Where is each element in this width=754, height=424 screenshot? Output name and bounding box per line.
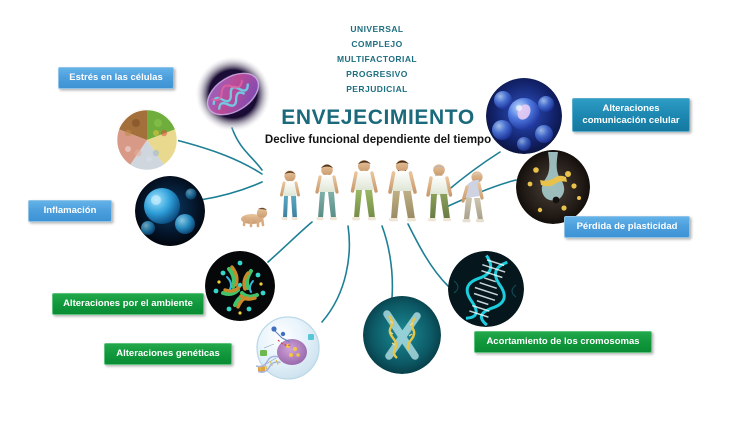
figure-young-adult (352, 160, 376, 220)
figure-baby (241, 208, 267, 226)
link-dna-helix (408, 224, 448, 286)
infographic-canvas: UNIVERSAL COMPLEJO MULTIFACTORIAL PROGRE… (0, 0, 754, 424)
chromosome-dna-image (363, 296, 441, 374)
label-acortamiento-de-los-cromosomas[interactable]: Acortamiento de los cromosomas (474, 331, 652, 353)
keyword-universal: UNIVERSAL (297, 22, 457, 37)
keyword-perjudicial: PERJUDICIAL (297, 82, 457, 97)
label-perdida-de-plasticidad[interactable]: Pérdida de plasticidad (564, 216, 690, 238)
keyword-list: UNIVERSAL COMPLEJO MULTIFACTORIAL PROGRE… (297, 22, 457, 97)
chromosome-spread-image (205, 251, 275, 321)
link-chromosome-spread (268, 222, 312, 262)
figure-adult (389, 160, 416, 221)
keyword-progresivo: PROGRESIVO (297, 67, 457, 82)
figure-elderly (463, 171, 485, 222)
dna-helix-image (448, 251, 524, 327)
figure-child (282, 170, 299, 220)
page-title: ENVEJECIMIENTO (238, 106, 518, 130)
immune-cell-image (135, 176, 205, 246)
nutrition-pie-image (116, 109, 178, 171)
label-inflamacion[interactable]: Inflamación (28, 200, 112, 222)
keyword-complejo: COMPLEJO (297, 37, 457, 52)
label-alteraciones-por-el-ambiente[interactable]: Alteraciones por el ambiente (52, 293, 204, 315)
cell-signaling-image (248, 308, 328, 388)
page-subtitle: Declive funcional dependiente del tiempo (228, 134, 528, 146)
label-alteraciones-geneticas[interactable]: Alteraciones genéticas (104, 343, 232, 365)
link-chromosome-dna (382, 226, 392, 298)
synapse-image (516, 150, 590, 224)
figure-teen (317, 164, 338, 220)
label-estres-en-las-celulas[interactable]: Estrés en las células (58, 67, 174, 89)
figure-mature (428, 164, 451, 221)
human-aging-progression (236, 160, 488, 228)
label-alteraciones-comunicacion-celular[interactable]: Alteraciones comunicación celular (572, 98, 690, 132)
keyword-multifactorial: MULTIFACTORIAL (297, 52, 457, 67)
link-cell-signal (322, 226, 349, 322)
